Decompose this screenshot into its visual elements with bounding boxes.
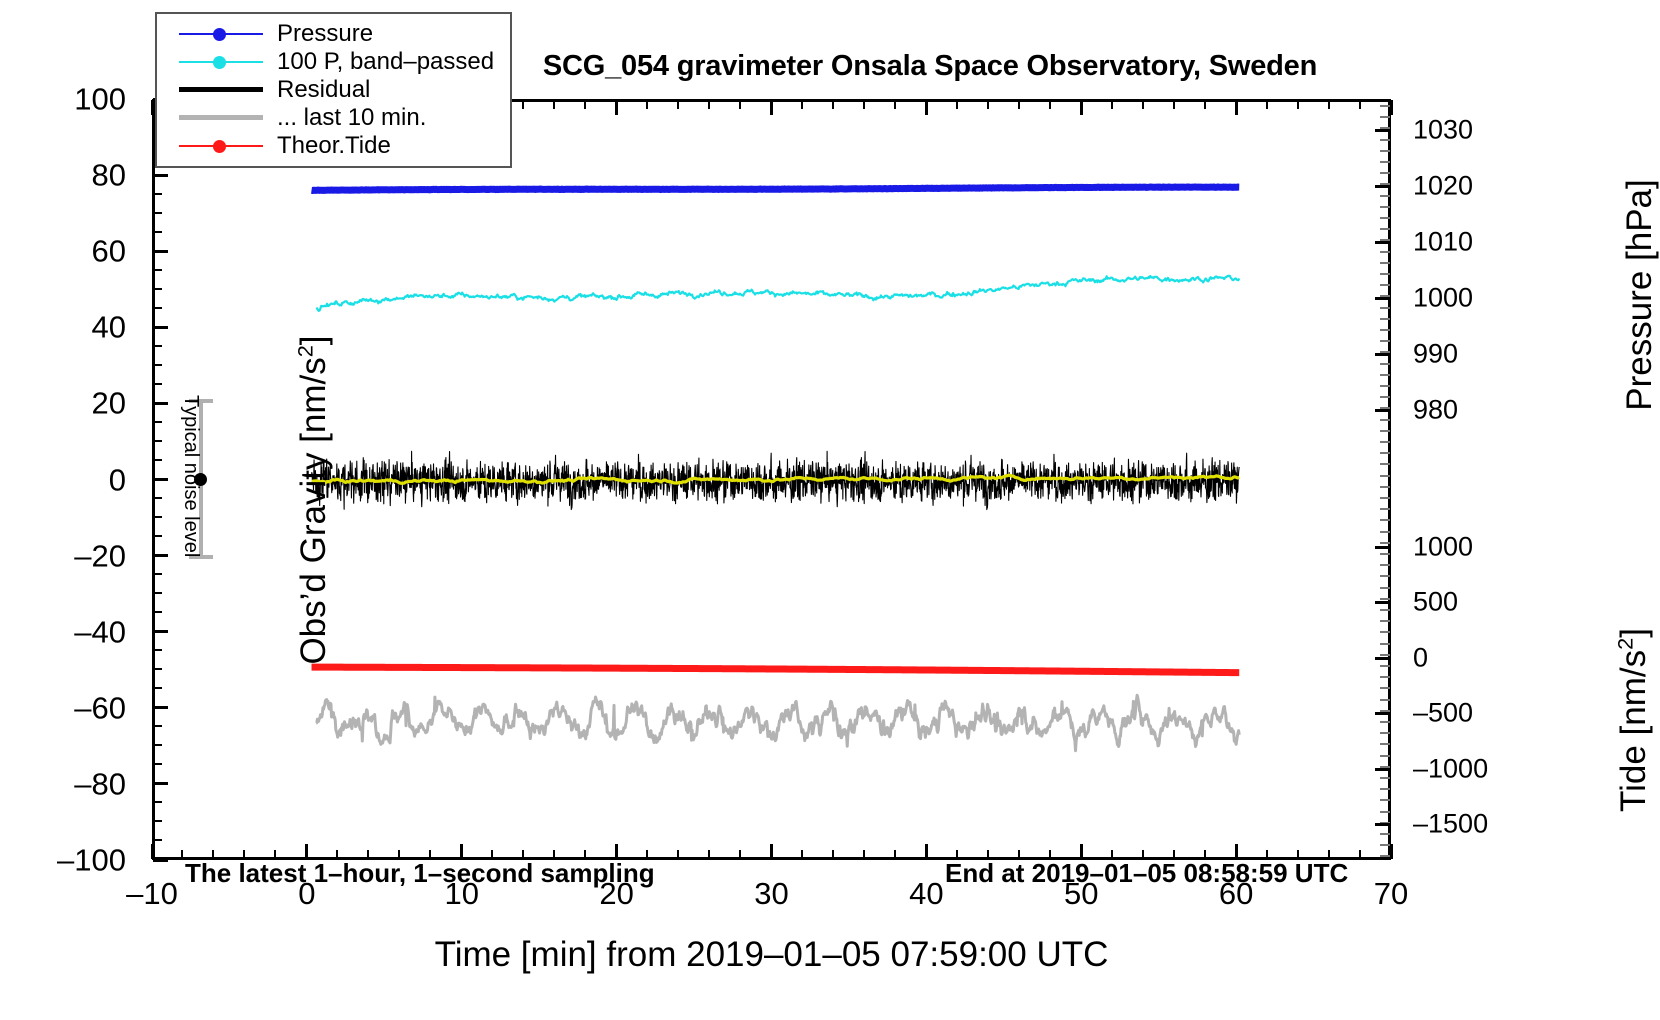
x-axis-title: Time [min] from 2019–01–05 07:59:00 UTC <box>152 935 1391 975</box>
x-tick--8 <box>181 850 183 859</box>
y-tick-label--60: –60 <box>0 692 126 723</box>
x-tick-10 <box>460 844 463 859</box>
legend-key-icon <box>179 54 263 70</box>
y-tick-15 <box>153 421 162 423</box>
y-axis-title-tide-exponent: 2 <box>1612 638 1637 650</box>
tide-tick-500 <box>1375 601 1390 604</box>
x-tick-top-16 <box>553 100 555 109</box>
y-tick-label--20: –20 <box>0 540 126 571</box>
right-minor-tick <box>1380 721 1390 723</box>
y-tick--75 <box>153 763 162 765</box>
legend-marker-dot <box>213 140 226 153</box>
y-axis-title-left-text: Obs’d Gravity [nm/s <box>294 357 333 664</box>
x-tick-top-18 <box>584 100 586 109</box>
right-minor-tick <box>1380 161 1390 163</box>
y-tick--45 <box>153 649 162 651</box>
right-minor-tick <box>1380 195 1390 197</box>
y-tick--50 <box>153 668 162 670</box>
x-tick-top-62 <box>1266 100 1268 109</box>
right-minor-tick <box>1380 665 1390 667</box>
y-tick-10 <box>153 440 162 442</box>
right-minor-tick <box>1380 620 1390 622</box>
x-tick-top-30 <box>770 100 773 115</box>
x-tick-top-32 <box>801 100 803 109</box>
right-minor-tick <box>1380 475 1390 477</box>
right-minor-tick <box>1380 150 1390 152</box>
x-tick-top--10 <box>151 100 154 115</box>
right-minor-tick <box>1380 127 1390 129</box>
x-tick-68 <box>1359 850 1361 859</box>
y-axis-title-left-tail: ] <box>294 335 333 345</box>
right-minor-tick <box>1380 687 1390 689</box>
x-tick-0 <box>305 844 308 859</box>
tide-tick--500 <box>1375 712 1390 715</box>
y-tick-label--40: –40 <box>0 616 126 647</box>
y-tick--35 <box>153 611 162 613</box>
x-tick-top-44 <box>987 100 989 109</box>
right-minor-tick <box>1380 295 1390 297</box>
right-minor-tick <box>1380 351 1390 353</box>
right-minor-tick <box>1380 116 1390 118</box>
series-canvas <box>155 102 1388 857</box>
y-tick-label-20: 20 <box>0 388 126 419</box>
y-tick-label-40: 40 <box>0 312 126 343</box>
x-tick-top-56 <box>1173 100 1175 109</box>
y-tick--90 <box>153 820 162 822</box>
noise-label: Typical noise level <box>179 395 202 575</box>
y-tick-label-60: 60 <box>0 236 126 267</box>
legend-label: Pressure <box>277 22 373 46</box>
right-minor-tick <box>1380 228 1390 230</box>
y-tick--15 <box>153 535 162 537</box>
y-tick--95 <box>153 839 162 841</box>
x-tick-label--10: –10 <box>126 878 178 909</box>
right-minor-tick <box>1380 497 1390 499</box>
right-minor-tick <box>1380 699 1390 701</box>
tide-tick--1000 <box>1375 768 1390 771</box>
x-tick-40 <box>925 844 928 859</box>
right-minor-tick <box>1380 799 1390 801</box>
legend-label: 100 P, band–passed <box>277 50 494 74</box>
x-tick-24 <box>677 850 679 859</box>
x-tick-label-30: 30 <box>754 878 788 909</box>
x-tick-50 <box>1080 844 1083 859</box>
x-tick-top-50 <box>1080 100 1083 115</box>
plot-canvas <box>155 102 1388 857</box>
legend-key-icon <box>179 110 263 126</box>
x-tick-top-38 <box>894 100 896 109</box>
right-minor-tick <box>1380 598 1390 600</box>
x-tick-top-70 <box>1390 100 1393 115</box>
x-tick-label-40: 40 <box>909 878 943 909</box>
legend-item-theor-tide[interactable]: Theor.Tide <box>179 132 510 160</box>
y-tick--55 <box>153 687 162 689</box>
y-tick-label--80: –80 <box>0 768 126 799</box>
pressure-tick-label-1020: 1020 <box>1413 173 1473 200</box>
legend-item-last-10-min[interactable]: ... last 10 min. <box>179 104 510 132</box>
right-minor-tick <box>1380 340 1390 342</box>
y-tick-25 <box>153 383 162 385</box>
y-tick--60 <box>153 706 168 709</box>
right-minor-tick <box>1380 183 1390 185</box>
right-minor-tick <box>1380 430 1390 432</box>
tide-tick-1000 <box>1375 546 1390 549</box>
legend-key-icon <box>179 138 263 154</box>
y-tick--80 <box>153 782 168 785</box>
right-minor-tick <box>1380 307 1390 309</box>
legend-key-icon <box>179 26 263 42</box>
typical-noise-level-annotation: Typical noise level <box>186 399 246 579</box>
y-tick--5 <box>153 497 162 499</box>
right-minor-tick <box>1380 575 1390 577</box>
y-axis-title-left: Obs’d Gravity [nm/s2] <box>294 180 334 820</box>
plot-area <box>152 99 1391 860</box>
x-tick-top-60 <box>1235 100 1238 115</box>
tide-tick-label--1000: –1000 <box>1413 756 1488 783</box>
x-tick-36 <box>863 850 865 859</box>
y-tick--85 <box>153 801 162 803</box>
right-minor-tick <box>1380 172 1390 174</box>
series-last-10-min <box>316 695 1239 750</box>
right-minor-tick <box>1380 676 1390 678</box>
right-minor-tick <box>1380 318 1390 320</box>
y-axis-title-tide-tail: ] <box>1614 628 1653 638</box>
right-minor-tick <box>1380 531 1390 533</box>
y-tick-75 <box>153 193 162 195</box>
x-tick-top-64 <box>1297 100 1299 109</box>
legend-item-residual[interactable]: Residual <box>179 76 510 104</box>
end-time-note: End at 2019–01–05 08:58:59 UTC <box>945 858 1348 889</box>
x-tick-top-54 <box>1142 100 1144 109</box>
pressure-tick-label-1000: 1000 <box>1413 285 1473 312</box>
y-tick-20 <box>153 402 168 405</box>
right-minor-tick <box>1380 441 1390 443</box>
tide-tick-0 <box>1375 657 1390 660</box>
right-minor-tick <box>1380 419 1390 421</box>
y-tick--10 <box>153 516 162 518</box>
right-minor-tick <box>1380 262 1390 264</box>
right-minor-tick <box>1380 105 1390 107</box>
pressure-tick-label-1030: 1030 <box>1413 117 1473 144</box>
y-tick--100 <box>153 859 168 862</box>
x-tick-34 <box>832 850 834 859</box>
right-minor-tick <box>1380 609 1390 611</box>
right-minor-tick <box>1380 732 1390 734</box>
right-minor-tick <box>1380 407 1390 409</box>
x-tick-top-34 <box>832 100 834 109</box>
pressure-tick-label-990: 990 <box>1413 341 1458 368</box>
x-tick--10 <box>151 844 154 859</box>
page-title: SCG_054 gravimeter Onsala Space Observat… <box>430 50 1430 83</box>
right-minor-tick <box>1380 396 1390 398</box>
legend-line-swatch <box>179 115 263 120</box>
y-tick--25 <box>153 573 162 575</box>
right-minor-tick <box>1380 284 1390 286</box>
right-minor-tick <box>1380 755 1390 757</box>
x-tick-top-20 <box>615 100 618 115</box>
y-tick--65 <box>153 725 162 727</box>
y-tick-45 <box>153 307 162 309</box>
y-tick--70 <box>153 744 162 746</box>
x-tick-top-40 <box>925 100 928 115</box>
series-theoretical-tide <box>312 667 1240 673</box>
tide-tick-label-1000: 1000 <box>1413 534 1473 561</box>
tide-tick--1500 <box>1375 823 1390 826</box>
right-minor-tick <box>1380 139 1390 141</box>
right-minor-tick <box>1380 643 1390 645</box>
sampling-note: The latest 1–hour, 1–second sampling <box>185 858 655 889</box>
series-pressure <box>312 187 1240 191</box>
y-axis-title-tide-text: Tide [nm/s <box>1614 650 1653 812</box>
y-tick-label-80: 80 <box>0 160 126 191</box>
right-minor-tick <box>1380 463 1390 465</box>
x-tick-top-14 <box>522 100 524 109</box>
x-tick-top-46 <box>1018 100 1020 109</box>
y-tick-50 <box>153 288 162 290</box>
right-minor-tick <box>1380 519 1390 521</box>
right-minor-tick <box>1380 564 1390 566</box>
x-tick-top-58 <box>1204 100 1206 109</box>
right-minor-tick <box>1380 374 1390 376</box>
tide-tick-label--500: –500 <box>1413 700 1473 727</box>
x-tick-top-52 <box>1111 100 1113 109</box>
right-minor-tick <box>1380 273 1390 275</box>
y-axis-title-left-exponent: 2 <box>292 345 317 357</box>
legend-key-icon <box>179 82 263 98</box>
right-minor-tick <box>1380 788 1390 790</box>
right-minor-tick <box>1380 385 1390 387</box>
x-tick-20 <box>615 844 618 859</box>
x-tick-60 <box>1235 844 1238 859</box>
right-minor-tick <box>1380 811 1390 813</box>
y-axis-title-pressure: Pressure [hPa] <box>1620 85 1660 505</box>
y-tick-30 <box>153 364 162 366</box>
x-tick-label-70: 70 <box>1374 878 1408 909</box>
right-minor-tick <box>1380 452 1390 454</box>
y-tick-0 <box>153 478 168 481</box>
y-tick-40 <box>153 326 168 329</box>
right-minor-tick <box>1380 363 1390 365</box>
x-tick-top-42 <box>956 100 958 109</box>
legend-label: Theor.Tide <box>277 134 391 158</box>
right-minor-tick <box>1380 239 1390 241</box>
y-tick-60 <box>153 250 168 253</box>
x-tick-28 <box>739 850 741 859</box>
legend-marker-dot <box>213 28 226 41</box>
y-tick--40 <box>153 630 168 633</box>
right-minor-tick <box>1380 743 1390 745</box>
x-tick-32 <box>801 850 803 859</box>
y-tick--20 <box>153 554 168 557</box>
x-tick-top-68 <box>1359 100 1361 109</box>
legend-item-100-p-band-passed[interactable]: 100 P, band–passed <box>179 48 510 76</box>
legend: Pressure100 P, band–passedResidual... la… <box>155 12 512 168</box>
right-minor-tick <box>1380 508 1390 510</box>
y-tick--30 <box>153 592 162 594</box>
x-tick-top-24 <box>677 100 679 109</box>
right-minor-tick <box>1380 251 1390 253</box>
legend-label: ... last 10 min. <box>277 106 426 130</box>
tide-tick-label-500: 500 <box>1413 589 1458 616</box>
legend-marker-dot <box>213 56 226 69</box>
y-tick-55 <box>153 269 162 271</box>
x-tick-top-22 <box>646 100 648 109</box>
right-minor-tick <box>1380 654 1390 656</box>
right-minor-tick <box>1380 855 1390 857</box>
y-tick-65 <box>153 231 162 233</box>
series-pressure-bandpassed <box>316 276 1239 311</box>
right-minor-tick <box>1380 553 1390 555</box>
right-minor-tick <box>1380 587 1390 589</box>
tide-tick-label--1500: –1500 <box>1413 811 1488 838</box>
pressure-tick-label-1010: 1010 <box>1413 229 1473 256</box>
right-minor-tick <box>1380 486 1390 488</box>
right-minor-tick <box>1380 329 1390 331</box>
right-minor-tick <box>1380 206 1390 208</box>
right-minor-tick <box>1380 777 1390 779</box>
y-tick-5 <box>153 459 162 461</box>
x-tick-top-26 <box>708 100 710 109</box>
right-minor-tick <box>1380 217 1390 219</box>
right-minor-tick <box>1380 631 1390 633</box>
right-minor-tick <box>1380 844 1390 846</box>
y-tick-label-0: 0 <box>0 464 126 495</box>
y-tick-label--100: –100 <box>0 845 126 876</box>
x-tick-top-48 <box>1049 100 1051 109</box>
right-minor-tick <box>1380 542 1390 544</box>
legend-line-swatch <box>179 87 263 92</box>
legend-item-pressure[interactable]: Pressure <box>179 20 510 48</box>
pressure-tick-label-980: 980 <box>1413 397 1458 424</box>
y-tick-70 <box>153 212 162 214</box>
chart-root: SCG_054 gravimeter Onsala Space Observat… <box>0 0 1660 1020</box>
x-tick-30 <box>770 844 773 859</box>
right-minor-tick <box>1380 833 1390 835</box>
x-tick-top-28 <box>739 100 741 109</box>
x-tick-26 <box>708 850 710 859</box>
x-tick-top-66 <box>1328 100 1330 109</box>
y-tick-35 <box>153 345 162 347</box>
x-tick-38 <box>894 850 896 859</box>
y-tick-80 <box>153 174 168 177</box>
legend-label: Residual <box>277 78 370 102</box>
y-tick-label-100: 100 <box>0 84 126 115</box>
y-axis-title-tide: Tide [nm/s2] <box>1614 520 1654 920</box>
x-tick-top-36 <box>863 100 865 109</box>
tide-tick-label-0: 0 <box>1413 645 1428 672</box>
